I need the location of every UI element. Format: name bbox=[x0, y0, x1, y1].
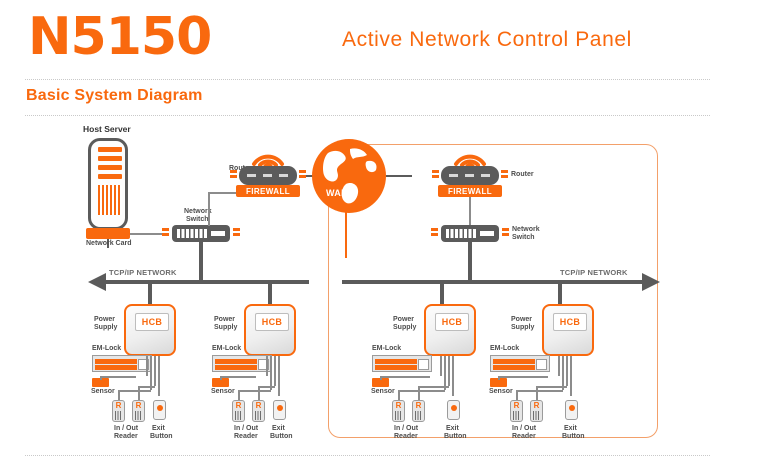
in-out-reader-3a[interactable]: R bbox=[392, 400, 405, 422]
hcb1-reader-wire-c bbox=[158, 356, 160, 396]
sensor-label-3: Sensor bbox=[371, 388, 395, 396]
in-out-reader-1a[interactable]: R bbox=[112, 400, 125, 422]
firewall-right-to-switch-wire bbox=[469, 197, 471, 225]
router-left-port-out-1 bbox=[299, 170, 306, 173]
reader-glyph-1b: R bbox=[133, 402, 144, 410]
network-card-label: Network Card bbox=[86, 240, 132, 248]
bus-drop-hcb-4 bbox=[558, 280, 562, 306]
router-right-port-out-1 bbox=[501, 170, 508, 173]
exit-button-label-4b: Button bbox=[562, 433, 585, 441]
switch-right-port-out-1 bbox=[502, 228, 509, 231]
tcpip-bus-right bbox=[342, 280, 648, 284]
tcpip-arrow-left-icon bbox=[88, 273, 108, 291]
exit-button-dot-icon-2 bbox=[277, 405, 283, 411]
em-lock-4 bbox=[490, 355, 550, 372]
hcb-controller-3[interactable]: HCB bbox=[424, 304, 476, 356]
firewall-left: FIREWALL bbox=[236, 185, 300, 197]
switch-right-port-in-1 bbox=[431, 228, 438, 231]
router-right bbox=[441, 166, 499, 185]
in-out-reader-label-1b: Reader bbox=[114, 433, 138, 441]
hcb2-reader-wire-c bbox=[278, 356, 280, 396]
hcb-chip-label-1: HCB bbox=[135, 313, 169, 331]
hcb3-reader-run-a bbox=[398, 390, 445, 392]
host-server bbox=[88, 138, 128, 230]
router-left-port-out-2 bbox=[299, 175, 306, 178]
hcb1-reader-drop-b bbox=[138, 386, 140, 400]
wan-globe-icon bbox=[312, 139, 386, 213]
wan-label: WAN bbox=[326, 188, 348, 198]
em-lock-label-4: EM-Lock bbox=[490, 345, 519, 353]
bus-drop-hcb-2 bbox=[268, 280, 272, 306]
hcb4-reader-wire-a bbox=[562, 356, 564, 390]
hcb-controller-4[interactable]: HCB bbox=[542, 304, 594, 356]
wan-continents-icon bbox=[312, 139, 386, 213]
router-right-port-out-2 bbox=[501, 175, 508, 178]
hcb3-reader-drop-a bbox=[398, 390, 400, 400]
router-left bbox=[239, 166, 297, 185]
power-supply-label-3b: Supply bbox=[393, 324, 416, 332]
hcb4-to-emlock-wire bbox=[558, 356, 560, 376]
in-out-reader-1b[interactable]: R bbox=[132, 400, 145, 422]
em-lock-1 bbox=[92, 355, 152, 372]
network-card bbox=[86, 228, 130, 239]
network-switch-left bbox=[172, 225, 230, 242]
nic-to-switch-wire bbox=[130, 233, 164, 235]
exit-button-dot-icon-1 bbox=[157, 405, 163, 411]
in-out-reader-label-1a: In / Out bbox=[114, 425, 138, 433]
switch-left-port-out-1 bbox=[233, 228, 240, 231]
wan-to-router-right-wire bbox=[386, 175, 412, 177]
tcpip-bus-left bbox=[104, 280, 309, 284]
in-out-reader-label-4a: In / Out bbox=[512, 425, 536, 433]
exit-button-4[interactable] bbox=[565, 400, 578, 420]
sensor2-wire-h bbox=[220, 376, 256, 378]
in-out-reader-4a[interactable]: R bbox=[510, 400, 523, 422]
hcb4-reader-wire-b bbox=[566, 356, 568, 386]
divider-bottom bbox=[25, 455, 710, 456]
wifi-signal-icon-left bbox=[251, 147, 285, 167]
exit-button-3[interactable] bbox=[447, 400, 460, 420]
in-out-reader-2a[interactable]: R bbox=[232, 400, 245, 422]
section-title: Basic System Diagram bbox=[26, 87, 203, 105]
exit-button-label-1a: Exit bbox=[152, 425, 165, 433]
sensor1-wire-v bbox=[100, 376, 102, 380]
em-lock-2 bbox=[212, 355, 272, 372]
divider-under-section-title bbox=[25, 115, 710, 116]
wan-downlink-wire bbox=[345, 212, 347, 258]
exit-button-label-3b: Button bbox=[444, 433, 467, 441]
hcb4-reader-run-a bbox=[516, 390, 563, 392]
switch-left-port-in-1 bbox=[162, 228, 169, 231]
exit-button-2[interactable] bbox=[273, 400, 286, 420]
em-lock-3 bbox=[372, 355, 432, 372]
router-right-port-in-2 bbox=[432, 175, 439, 178]
switch-right-port-out-2 bbox=[502, 233, 509, 236]
hcb1-reader-run-b bbox=[138, 386, 155, 388]
hcb2-reader-wire-b bbox=[274, 356, 276, 386]
em-lock-label-2: EM-Lock bbox=[212, 345, 241, 353]
hcb3-to-emlock-wire bbox=[440, 356, 442, 376]
hcb3-reader-drop-b bbox=[418, 386, 420, 400]
hcb2-reader-run-b bbox=[258, 386, 275, 388]
sensor-label-1: Sensor bbox=[91, 388, 115, 396]
in-out-reader-label-3b: Reader bbox=[394, 433, 418, 441]
router-right-port-in-1 bbox=[432, 170, 439, 173]
power-supply-label-1a: Power bbox=[94, 316, 115, 324]
switch-right-to-bus-drop bbox=[468, 242, 472, 282]
sensor4-wire-v bbox=[498, 376, 500, 380]
hcb2-to-emlock-wire bbox=[266, 356, 268, 376]
hcb1-reader-wire-a bbox=[150, 356, 152, 390]
router-right-label: Router bbox=[511, 171, 534, 179]
hcb2-reader-drop-b bbox=[258, 386, 260, 400]
sensor-label-2: Sensor bbox=[211, 388, 235, 396]
exit-button-label-2a: Exit bbox=[272, 425, 285, 433]
hcb4-reader-wire-c bbox=[570, 356, 572, 396]
power-supply-label-4a: Power bbox=[511, 316, 532, 324]
in-out-reader-label-3a: In / Out bbox=[394, 425, 418, 433]
exit-button-dot-icon-3 bbox=[451, 405, 457, 411]
power-supply-label-1b: Supply bbox=[94, 324, 117, 332]
host-server-label: Host Server bbox=[83, 125, 131, 133]
sensor3-wire-h bbox=[380, 376, 430, 378]
router-left-port-in-2 bbox=[230, 175, 237, 178]
reader-glyph-4a: R bbox=[511, 402, 522, 410]
hcb1-reader-drop-a bbox=[118, 390, 120, 400]
reader-glyph-1a: R bbox=[113, 402, 124, 410]
hcb2-reader-drop-a bbox=[238, 390, 240, 400]
in-out-reader-label-2a: In / Out bbox=[234, 425, 258, 433]
switch-left-to-bus-drop bbox=[199, 242, 203, 282]
hcb1-to-emlock-wire bbox=[146, 356, 148, 376]
network-switch-left-label-2: Switch bbox=[186, 216, 209, 224]
reader-glyph-2a: R bbox=[233, 402, 244, 410]
hcb3-reader-wire-b bbox=[448, 356, 450, 386]
hcb3-reader-wire-c bbox=[452, 356, 454, 396]
sensor2-wire-v bbox=[220, 376, 222, 380]
in-out-reader-4b[interactable]: R bbox=[530, 400, 543, 422]
switch-right-port-in-2 bbox=[431, 233, 438, 236]
reader-glyph-4b: R bbox=[531, 402, 542, 410]
hcb3-reader-run-b bbox=[418, 386, 449, 388]
exit-button-label-3a: Exit bbox=[446, 425, 459, 433]
in-out-reader-label-2b: Reader bbox=[234, 433, 258, 441]
tcpip-label-left: TCP/IP NETWORK bbox=[109, 268, 177, 277]
reader-glyph-3b: R bbox=[413, 402, 424, 410]
firewall-right: FIREWALL bbox=[438, 185, 502, 197]
brand-logo: N5150 bbox=[28, 11, 211, 63]
hcb2-reader-run-a bbox=[238, 390, 271, 392]
hcb1-reader-run-a bbox=[118, 390, 151, 392]
router-left-port-in-1 bbox=[230, 170, 237, 173]
switch-left-port-out-2 bbox=[233, 233, 240, 236]
sensor4-wire-h bbox=[498, 376, 548, 378]
hcb4-reader-drop-b bbox=[536, 386, 538, 400]
exit-button-label-2b: Button bbox=[270, 433, 293, 441]
system-diagram: Host Server Network Card Network Switch … bbox=[0, 120, 768, 455]
network-switch-right-label-2: Switch bbox=[512, 234, 535, 242]
power-supply-label-2a: Power bbox=[214, 316, 235, 324]
em-lock-label-3: EM-Lock bbox=[372, 345, 401, 353]
switch-to-firewall-wire-v bbox=[208, 192, 210, 226]
exit-button-dot-icon-4 bbox=[569, 405, 575, 411]
hcb-chip-label-3: HCB bbox=[435, 313, 469, 331]
tcpip-arrow-right-icon bbox=[640, 273, 660, 291]
hcb-controller-2[interactable]: HCB bbox=[244, 304, 296, 356]
exit-button-label-1b: Button bbox=[150, 433, 173, 441]
hcb-chip-label-4: HCB bbox=[553, 313, 587, 331]
switch-left-port-in-2 bbox=[162, 233, 169, 236]
exit-button-label-4a: Exit bbox=[564, 425, 577, 433]
hcb2-reader-wire-a bbox=[270, 356, 272, 390]
reader-glyph-2b: R bbox=[253, 402, 264, 410]
hcb4-reader-run-b bbox=[536, 386, 567, 388]
bus-drop-hcb-3 bbox=[440, 280, 444, 306]
hcb-chip-label-2: HCB bbox=[255, 313, 289, 331]
sensor-label-4: Sensor bbox=[489, 388, 513, 396]
in-out-reader-3b[interactable]: R bbox=[412, 400, 425, 422]
reader-glyph-3a: R bbox=[393, 402, 404, 410]
sensor1-wire-h bbox=[100, 376, 136, 378]
exit-button-1[interactable] bbox=[153, 400, 166, 420]
tcpip-label-right: TCP/IP NETWORK bbox=[560, 268, 628, 277]
power-supply-label-4b: Supply bbox=[511, 324, 534, 332]
wifi-signal-icon-right bbox=[453, 147, 487, 167]
divider-top bbox=[25, 79, 710, 80]
page-subtitle: Active Network Control Panel bbox=[342, 28, 632, 52]
bus-drop-hcb-1 bbox=[148, 280, 152, 306]
hcb1-reader-wire-b bbox=[154, 356, 156, 386]
power-supply-label-2b: Supply bbox=[214, 324, 237, 332]
hcb-controller-1[interactable]: HCB bbox=[124, 304, 176, 356]
network-switch-right bbox=[441, 225, 499, 242]
in-out-reader-label-4b: Reader bbox=[512, 433, 536, 441]
hcb3-reader-wire-a bbox=[444, 356, 446, 390]
power-supply-label-3a: Power bbox=[393, 316, 414, 324]
em-lock-label-1: EM-Lock bbox=[92, 345, 121, 353]
network-switch-right-label-1: Network bbox=[512, 226, 540, 234]
hcb4-reader-drop-a bbox=[516, 390, 518, 400]
in-out-reader-2b[interactable]: R bbox=[252, 400, 265, 422]
sensor3-wire-v bbox=[380, 376, 382, 380]
